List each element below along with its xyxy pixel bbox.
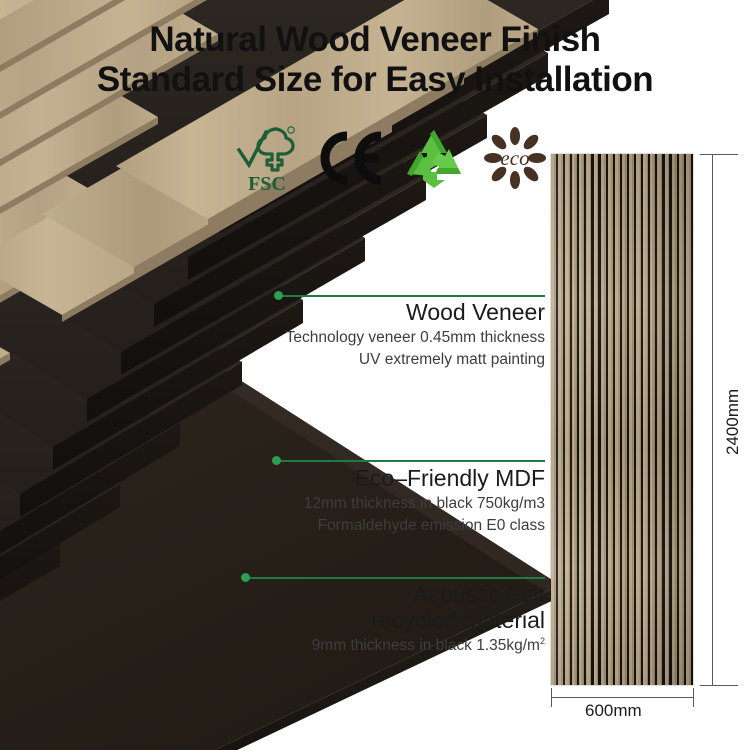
- wood-grain-line: [604, 154, 605, 685]
- fsc-certification-badge: FSC: [236, 123, 298, 193]
- wood-grain-line: [554, 154, 555, 685]
- wood-grain-line: [588, 154, 589, 685]
- wood-grain-line: [569, 154, 570, 685]
- wood-grain-line: [659, 154, 660, 685]
- slat-panel-product-view: [551, 154, 693, 685]
- dimension-line-width: [551, 697, 693, 698]
- wood-grain-line: [566, 154, 567, 685]
- wood-grain-line: [609, 154, 610, 685]
- slat-panel: [551, 154, 693, 685]
- wood-grain-line: [625, 154, 626, 685]
- panel-groove: [691, 154, 693, 685]
- wood-grain-line: [595, 154, 596, 685]
- wood-grain-line: [652, 154, 653, 685]
- dimension-tick-height-bottom: [700, 685, 738, 686]
- wood-grain-line: [632, 154, 633, 685]
- headline-line-2: Standard Size for Easy Installation: [0, 60, 750, 100]
- callout-sub2-eco-friendly-mdf: Formaldehyde emission E0 class: [0, 516, 545, 536]
- wood-grain-line: [611, 154, 612, 685]
- callout-title-eco-friendly-mdf: Eco–Friendly MDF: [0, 466, 545, 492]
- callout-acoustic-felt: Acoustic Felt recycled material 9mm thic…: [0, 582, 545, 656]
- wood-grain-line: [616, 154, 617, 685]
- wood-grain-line: [689, 154, 690, 685]
- callout-sub1-acoustic-felt: 9mm thickness in black 1.35kg/m2: [0, 636, 545, 657]
- wood-grain-line: [668, 154, 669, 685]
- dimension-tick-height-top: [700, 154, 738, 155]
- wood-grain-line: [574, 154, 575, 685]
- callout-line-eco-friendly-mdf: [279, 460, 545, 462]
- callout-sub1-wood-veneer: Technology veneer 0.45mm thickness: [0, 328, 545, 348]
- headline-block: Natural Wood Veneer Finish Standard Size…: [0, 20, 750, 100]
- ce-icon: [317, 130, 383, 186]
- wood-grain-line: [630, 154, 631, 685]
- wood-grain-line: [597, 154, 598, 685]
- dimension-tick-width-left: [551, 688, 552, 707]
- dimension-label-width: 600mm: [585, 701, 642, 721]
- wood-grain-line: [618, 154, 619, 685]
- eco-icon: eco: [484, 127, 546, 189]
- callout-sub1-acoustic-felt-text: 9mm thickness in black 1.35kg/m: [312, 637, 540, 654]
- wood-grain-line: [559, 154, 560, 685]
- wood-grain-line: [602, 154, 603, 685]
- fsc-icon: FSC: [236, 123, 298, 193]
- wood-grain-line: [576, 154, 577, 685]
- eco-label: eco: [500, 146, 529, 170]
- wood-grain-line: [675, 154, 676, 685]
- wood-grain-line: [637, 154, 638, 685]
- recycle-symbol-badge: [403, 128, 465, 188]
- fsc-label: FSC: [248, 173, 286, 193]
- callout-line-acoustic-felt: [248, 577, 545, 579]
- wood-grain-line: [661, 154, 662, 685]
- recycle-icon: [403, 128, 465, 188]
- callout-dot-eco-friendly-mdf: [272, 456, 281, 465]
- callout-title-acoustic-felt: Acoustic Felt: [0, 582, 545, 608]
- wood-grain-line: [561, 154, 562, 685]
- callout-dot-acoustic-felt: [241, 573, 250, 582]
- headline-line-1: Natural Wood Veneer Finish: [0, 20, 750, 60]
- wood-grain-line: [682, 154, 683, 685]
- callout-dot-wood-veneer: [274, 291, 283, 300]
- wood-grain-line: [680, 154, 681, 685]
- ce-marking-badge: [317, 130, 383, 186]
- dimension-line-height: [712, 154, 713, 685]
- callout-title-wood-veneer: Wood Veneer: [0, 300, 545, 326]
- callout-line-wood-veneer: [281, 295, 545, 297]
- wood-grain-line: [552, 154, 553, 685]
- wood-grain-line: [654, 154, 655, 685]
- wood-grain-line: [581, 154, 582, 685]
- wood-grain-line: [666, 154, 667, 685]
- eco-badge: eco: [484, 127, 546, 189]
- wood-grain-line: [645, 154, 646, 685]
- wood-grain-line: [583, 154, 584, 685]
- callout-eco-friendly-mdf: Eco–Friendly MDF 12mm thickness in black…: [0, 466, 545, 537]
- wood-grain-line: [623, 154, 624, 685]
- wood-grain-line: [590, 154, 591, 685]
- callout-sub2-wood-veneer: UV extremely matt painting: [0, 350, 545, 370]
- wood-grain-line: [687, 154, 688, 685]
- callout-wood-veneer: Wood Veneer Technology veneer 0.45mm thi…: [0, 300, 545, 371]
- certification-badge-row: FSC: [236, 120, 546, 196]
- wood-grain-line: [640, 154, 641, 685]
- callout-title2-acoustic-felt: recycled material: [0, 608, 545, 634]
- dimension-label-height: 2400mm: [723, 389, 743, 455]
- infographic-canvas: Natural Wood Veneer Finish Standard Size…: [0, 0, 750, 750]
- dimension-tick-width-right: [693, 688, 694, 707]
- callout-sub1-eco-friendly-mdf: 12mm thickness in black 750kg/m3: [0, 494, 545, 514]
- wood-grain-line: [673, 154, 674, 685]
- wood-grain-line: [647, 154, 648, 685]
